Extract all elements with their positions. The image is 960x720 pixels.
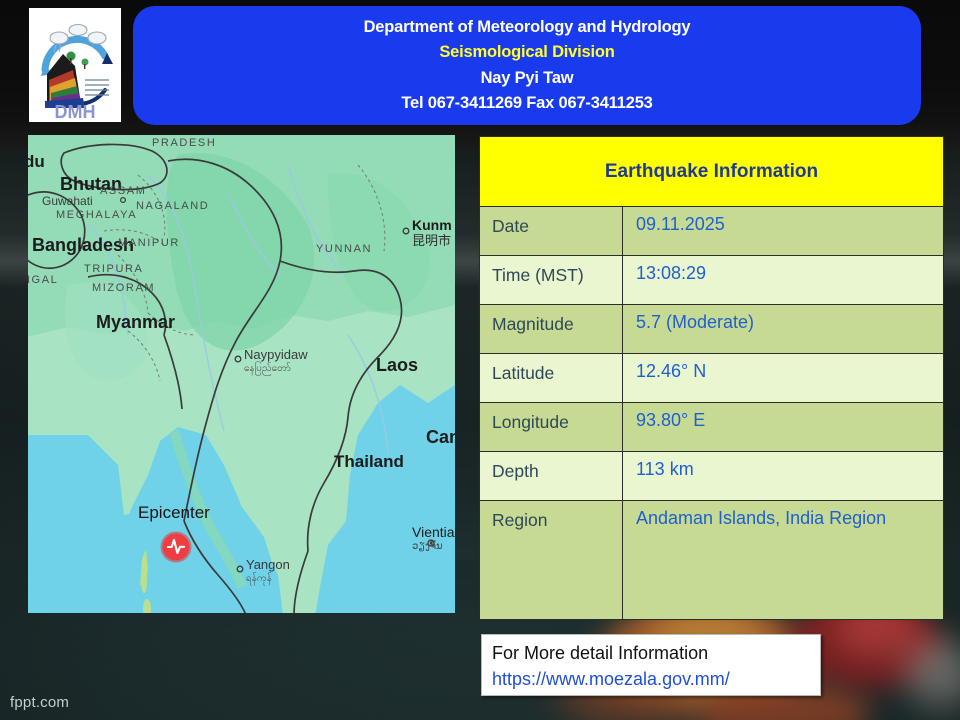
svg-text:PRADESH: PRADESH — [152, 137, 216, 149]
svg-text:MANIPUR: MANIPUR — [118, 237, 180, 249]
row-value-time: 13:08:29 — [623, 256, 943, 304]
row-label-time: Time (MST) — [480, 256, 623, 304]
row-value-longitude: 93.80° E — [623, 403, 943, 451]
svg-text:ရန်ကုန်: ရန်ကုန် — [246, 571, 272, 586]
svg-text:Can: Can — [426, 427, 455, 447]
more-info-link[interactable]: https://www.moezala.gov.mm/ — [492, 666, 820, 692]
banner-line-city: Nay Pyi Taw — [481, 67, 574, 90]
table-header-row: Earthquake Information — [480, 137, 943, 207]
row-value-depth: 113 km — [623, 452, 943, 500]
epicenter-map[interactable]: Bhutan Bangladesh Myanmar Laos Thailand … — [28, 135, 455, 613]
banner-line-contact: Tel 067-3411269 Fax 067-3411253 — [401, 92, 652, 115]
svg-text:Thailand: Thailand — [334, 452, 404, 471]
slide-canvas: DMH Department of Meteorology and Hydrol… — [0, 0, 960, 720]
epicenter-marker — [161, 532, 192, 563]
row-label-date: Date — [480, 207, 623, 255]
svg-text:Myanmar: Myanmar — [96, 312, 175, 332]
svg-text:Naypyidaw: Naypyidaw — [244, 347, 308, 362]
row-label-depth: Depth — [480, 452, 623, 500]
svg-text:NGAL: NGAL — [28, 274, 58, 286]
svg-text:DMH: DMH — [55, 102, 96, 122]
row-label-region: Region — [480, 501, 623, 619]
row-label-latitude: Latitude — [480, 354, 623, 402]
row-value-region: Andaman Islands, India Region — [623, 501, 943, 619]
row-value-magnitude: 5.7 (Moderate) — [623, 305, 943, 353]
svg-text:YUNNAN: YUNNAN — [316, 243, 372, 255]
svg-text:Vientia: Vientia — [412, 524, 455, 540]
table-title: Earthquake Information — [480, 161, 943, 183]
epicenter-label: Epicenter — [138, 503, 210, 522]
svg-text:Laos: Laos — [376, 355, 418, 375]
table-row: Date 09.11.2025 — [480, 207, 943, 256]
svg-text:Guwahati: Guwahati — [42, 194, 93, 208]
svg-text:NAGALAND: NAGALAND — [136, 200, 209, 212]
svg-text:ASSAM: ASSAM — [100, 185, 147, 197]
table-row: Longitude 93.80° E — [480, 403, 943, 452]
table-row: Depth 113 km — [480, 452, 943, 501]
table-row: Region Andaman Islands, India Region — [480, 501, 943, 619]
table-row: Magnitude 5.7 (Moderate) — [480, 305, 943, 354]
watermark: fppt.com — [10, 694, 69, 711]
svg-text:TRIPURA: TRIPURA — [84, 263, 143, 275]
row-value-latitude: 12.46° N — [623, 354, 943, 402]
row-label-longitude: Longitude — [480, 403, 623, 451]
svg-text:MIZORAM: MIZORAM — [92, 282, 155, 294]
more-info-text: For More detail Information — [492, 640, 820, 666]
banner-line-department: Department of Meteorology and Hydrology — [364, 16, 691, 39]
banner-line-division: Seismological Division — [439, 41, 614, 64]
svg-text:Kunm: Kunm — [412, 217, 452, 233]
dmh-logo: DMH — [29, 8, 121, 122]
svg-text:ວຽງຈັນ: ວຽງຈັນ — [412, 540, 443, 552]
hydrological-cycle-icon: DMH — [29, 8, 121, 122]
svg-text:du: du — [28, 152, 45, 171]
row-value-date: 09.11.2025 — [623, 207, 943, 255]
more-info-box: For More detail Information https://www.… — [481, 634, 821, 696]
row-label-magnitude: Magnitude — [480, 305, 623, 353]
table-row: Latitude 12.46° N — [480, 354, 943, 403]
svg-text:MEGHALAYA: MEGHALAYA — [56, 209, 137, 221]
header-banner: Department of Meteorology and Hydrology … — [133, 6, 921, 125]
earthquake-information-table: Earthquake Information Date 09.11.2025 T… — [479, 136, 944, 620]
svg-text:昆明市: 昆明市 — [412, 233, 451, 248]
svg-text:Yangon: Yangon — [246, 557, 290, 572]
table-row: Time (MST) 13:08:29 — [480, 256, 943, 305]
svg-text:နေပြည်တော်: နေပြည်တော် — [244, 360, 291, 376]
